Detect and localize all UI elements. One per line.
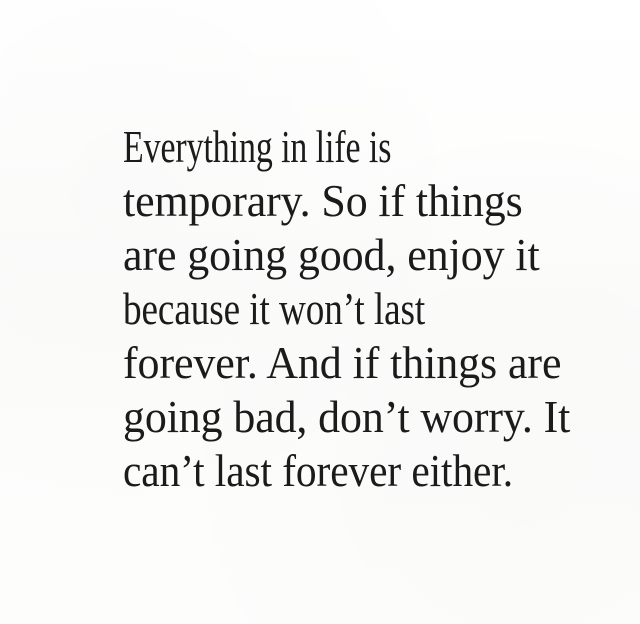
quote-image-card: Everything in life is temporary. So if t… [0,0,640,624]
quote-text-block: Everything in life is temporary. So if t… [123,120,623,498]
quote-line-1: Everything in life is [123,120,391,174]
quote-line-5: forever. And if things are [123,336,561,390]
quote-line-2: temporary. So if things [123,174,523,228]
quote-line-4: because it won’t last [123,282,425,336]
quote-line-3: are going good, enjoy it [123,228,540,282]
quote-line-7: can’t last forever either. [123,444,513,498]
quote-line-6: going bad, don’t worry. It [123,390,570,444]
